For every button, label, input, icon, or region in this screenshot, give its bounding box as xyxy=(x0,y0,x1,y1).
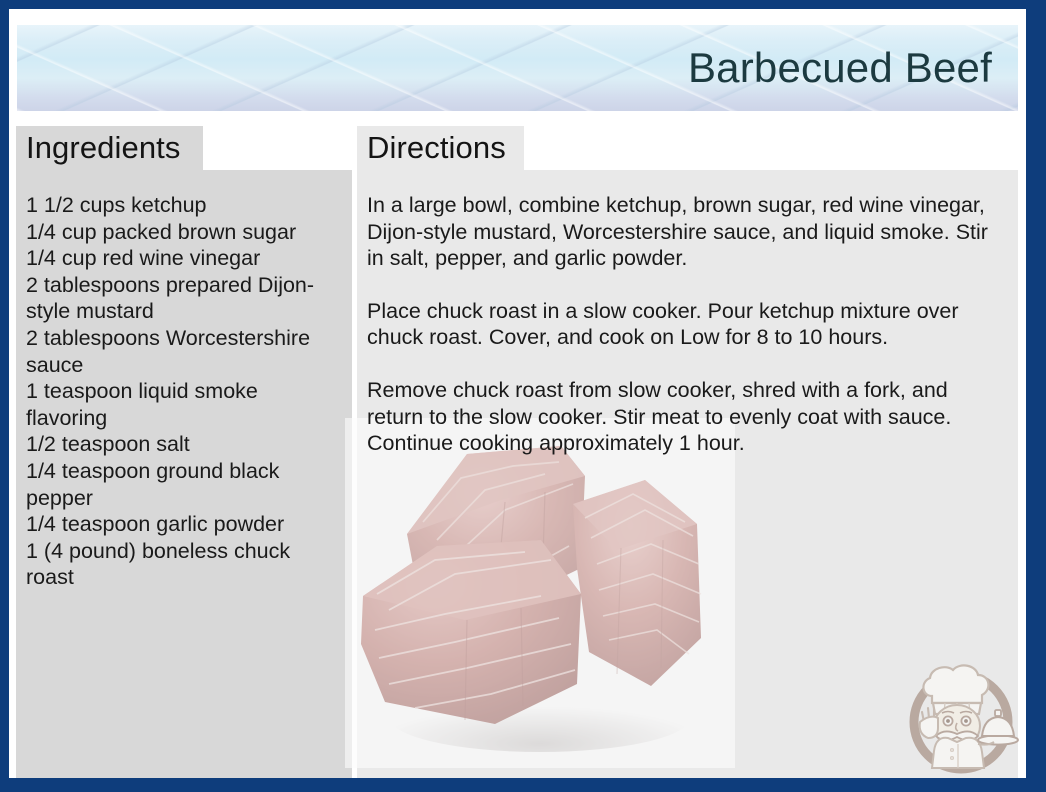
ingredient-item: 2 tablespoons Worcestershire sauce xyxy=(26,325,338,378)
ingredients-panel: 1 1/2 cups ketchup1/4 cup packed brown s… xyxy=(16,170,352,778)
section-header-directions: Directions xyxy=(357,126,524,170)
directions-step-list: In a large bowl, combine ketchup, brown … xyxy=(367,192,1004,457)
ingredient-item: 1/4 teaspoon ground black pepper xyxy=(26,458,338,511)
ingredient-item: 1/2 teaspoon salt xyxy=(26,431,338,458)
direction-step: Place chuck roast in a slow cooker. Pour… xyxy=(367,298,1004,351)
ingredient-item: 1/4 cup packed brown sugar xyxy=(26,219,338,246)
ingredients-heading: Ingredients xyxy=(26,130,180,166)
card-border-right xyxy=(1026,0,1046,792)
card-border-left xyxy=(0,0,9,792)
section-header-ingredients: Ingredients xyxy=(16,126,203,170)
page-title: Barbecued Beef xyxy=(688,44,992,92)
title-banner: Barbecued Beef xyxy=(17,25,1018,111)
ingredient-item: 1 teaspoon liquid smoke flavoring xyxy=(26,378,338,431)
directions-panel: In a large bowl, combine ketchup, brown … xyxy=(357,170,1018,778)
card-border-top xyxy=(0,0,1046,9)
ingredient-item: 2 tablespoons prepared Dijon-style musta… xyxy=(26,272,338,325)
directions-heading: Directions xyxy=(367,130,506,166)
ingredient-item: 1/4 cup red wine vinegar xyxy=(26,245,338,272)
ingredient-item: 1 1/2 cups ketchup xyxy=(26,192,338,219)
ingredient-item: 1 (4 pound) boneless chuck roast xyxy=(26,538,338,591)
card-border-bottom xyxy=(0,778,1046,792)
ingredient-list: 1 1/2 cups ketchup1/4 cup packed brown s… xyxy=(26,192,338,591)
direction-step: Remove chuck roast from slow cooker, shr… xyxy=(367,377,1004,457)
recipe-card: Barbecued Beef Ingredients Directions 1 … xyxy=(0,0,1046,792)
direction-step: In a large bowl, combine ketchup, brown … xyxy=(367,192,1004,272)
ingredient-item: 1/4 teaspoon garlic powder xyxy=(26,511,338,538)
